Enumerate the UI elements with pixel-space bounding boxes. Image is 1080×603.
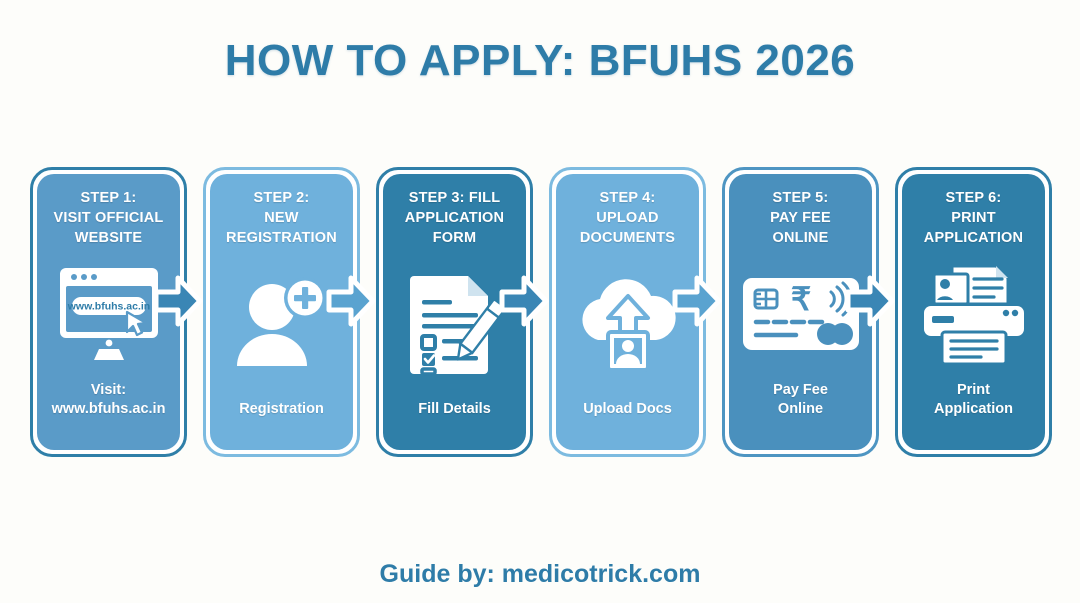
svg-text:₹: ₹	[790, 281, 810, 317]
step-card-4-title: STEP 4: UPLOAD DOCUMENTS	[580, 188, 675, 248]
arrow-step1-step2	[152, 272, 204, 330]
step-card-4-caption: Upload Docs	[583, 400, 672, 438]
step-card-2-caption: Registration	[239, 400, 324, 438]
step-card-2-title: STEP 2: NEW REGISTRATION	[226, 188, 337, 248]
step-card-6-caption: Print Application	[934, 381, 1013, 438]
step-card-3-caption: Fill Details	[418, 400, 491, 438]
arrow-step4-step5	[671, 272, 723, 330]
svg-text:www.bfuhs.ac.in: www.bfuhs.ac.in	[66, 301, 149, 313]
step-card-1-caption: Visit: www.bfuhs.ac.in	[52, 381, 166, 438]
footer-credit: Guide by: medicotrick.com	[0, 560, 1080, 589]
arrow-step5-step6	[844, 272, 896, 330]
arrow-step2-step3	[325, 272, 377, 330]
page-title: HOW TO APPLY: BFUHS 2026	[0, 36, 1080, 86]
printer-icon	[910, 248, 1037, 381]
step-card-3-title: STEP 3: FILL APPLICATION FORM	[405, 188, 504, 248]
step-card-1-title: STEP 1: VISIT OFFICIAL WEBSITE	[54, 188, 164, 248]
step-card-5-title: STEP 5: PAY FEE ONLINE	[770, 188, 831, 248]
step-card-6-title: STEP 6: PRINT APPLICATION	[924, 188, 1023, 248]
step-card-5-caption: Pay Fee Online	[773, 381, 828, 438]
arrow-step3-step4	[498, 272, 550, 330]
step-card-6[interactable]: STEP 6: PRINT APPLICATION	[895, 167, 1052, 457]
step-card-6-body: STEP 6: PRINT APPLICATION	[902, 174, 1045, 450]
